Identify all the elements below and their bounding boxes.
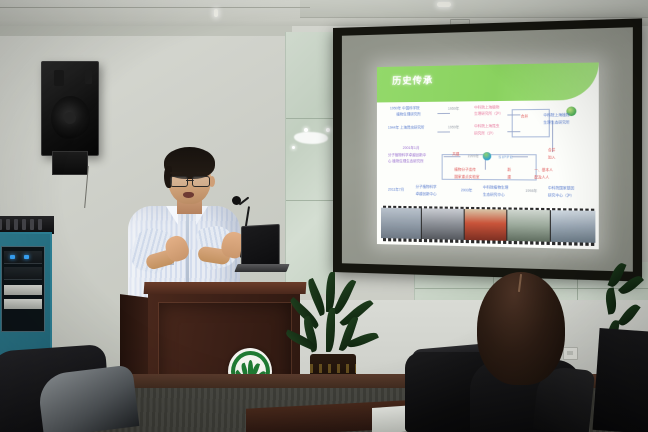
slide-flow-node: 生理研究所（沪）	[474, 112, 503, 117]
slide-flow-node: 分子植物科学	[416, 185, 437, 190]
rack-unit	[4, 267, 42, 280]
ceiling-beam	[300, 0, 648, 18]
speaker-dust-cap	[64, 112, 76, 124]
slide-flow-node: 中科院上海昆虫	[474, 124, 499, 129]
conference-room-photo: 历史传承 SIPPE 1950年 中国科学院植物生理研究	[0, 0, 648, 432]
speaker-port	[85, 70, 92, 84]
filmstrip-photo	[422, 209, 463, 241]
pot-decoration	[310, 364, 356, 373]
slide-flow-node: 卓越创新中心	[416, 192, 437, 197]
slide-flow-node: 1998年	[525, 189, 537, 194]
slide-sippe-logo-icon	[483, 152, 492, 160]
slide-flow-node: 建	[507, 175, 511, 179]
wall-power-outlet[interactable]	[563, 347, 578, 360]
slide-flow-node: 中科院上海植物	[543, 113, 569, 118]
rack-unit-faceplate	[4, 299, 42, 309]
slide-flow-node: 生理生态研究所	[543, 121, 569, 126]
slide-flow-node: 一、基本人	[534, 168, 553, 173]
slide-flow-node: 植物分子遗传	[454, 168, 475, 173]
av-rack-interior	[1, 246, 45, 332]
filmstrip-photo	[464, 209, 506, 241]
lectern-top-surface	[144, 282, 307, 294]
filmstrip-photo	[381, 208, 421, 239]
slide-flow-node: 心 植物生理生态研究所	[388, 160, 424, 164]
presenter-eyebrow-right	[196, 172, 209, 174]
slide-flow-node: 中科院上海植物	[474, 105, 499, 110]
presenter-laptop-base[interactable]	[234, 264, 289, 272]
presenter-mouth	[183, 192, 194, 198]
slide-flow-node: 共建	[452, 152, 459, 156]
slide-flow-node: 新	[507, 168, 511, 172]
slide-flow-node: 1959年	[448, 106, 459, 110]
slide-flow-node: 1944年 上海昆虫研究所	[388, 126, 424, 131]
projected-slide: 历史传承 SIPPE 1950年 中国科学院植物生理研究	[377, 62, 598, 249]
slide-flow-node: 2001年1月	[403, 146, 420, 150]
slide-flow-node: 1950年 中国科学院	[390, 106, 420, 111]
slide-flow-node: 加入	[548, 155, 555, 160]
av-equipment-rack	[0, 232, 52, 358]
eyeglass-lens-right	[192, 176, 210, 187]
eyeglass-lens-left	[170, 176, 188, 187]
speaker-tweeter	[54, 70, 64, 86]
slide-flow-node: 中科院植物生理	[483, 185, 508, 190]
slide-flow-node: 2003年	[461, 188, 473, 193]
eyeglasses-icon	[170, 176, 210, 185]
rack-unit	[4, 251, 42, 264]
filmstrip-photo	[551, 211, 595, 244]
rack-unit-faceplate	[4, 285, 42, 295]
slide-flow-node: 植物生理研究所	[396, 113, 420, 118]
presenter-eyebrow-left	[170, 172, 183, 174]
sage-glass-wall-panel	[285, 32, 335, 294]
projection-screen: 历史传承 SIPPE 1950年 中国科学院植物生理研究	[333, 18, 642, 281]
slide-logo-text: SIPPE	[498, 154, 513, 159]
speaker-woofer	[51, 96, 90, 140]
speaker-mounting-bracket	[52, 151, 88, 175]
wall-upper-band	[0, 26, 292, 36]
slide-flowchart: SIPPE 1950年 中国科学院植物生理研究所1959年中科院上海植物生理研究…	[377, 100, 598, 205]
slide-flow-node: 生态研究中心	[483, 192, 505, 197]
seated-audience-member	[477, 272, 565, 385]
slide-flow-node: 分子植物科学卓越创新中	[388, 153, 426, 157]
recessed-downlight	[214, 9, 218, 17]
projection-screen-surface: 历史传承 SIPPE 1950年 中国科学院植物生理研究	[342, 27, 633, 271]
slide-flow-node: 中科院国家基因	[548, 186, 574, 191]
slide-flow-node: 国家重点实验室	[454, 175, 479, 180]
wall-mounted-loudspeaker	[41, 61, 99, 156]
slide-flow-node: 研究中心（沪）	[548, 193, 574, 198]
slide-flow-node: 1959年	[448, 125, 459, 129]
slide-flow-node: 2011年7月	[388, 187, 404, 191]
slide-flow-node: 1999年	[467, 154, 479, 158]
potted-plant	[296, 272, 372, 388]
filmstrip-photo	[507, 210, 550, 242]
foreground-chair-right[interactable]	[593, 328, 648, 432]
photo-filmstrip	[381, 206, 596, 246]
ceiling-seam	[0, 7, 310, 8]
slide-flow-node: 合并	[548, 148, 555, 152]
slide-flow-node: 合并	[521, 115, 528, 120]
slide-title: 历史传承	[392, 73, 433, 87]
slide-flow-node: 研究所（沪）	[474, 131, 496, 136]
slide-flow-node: 配及人人	[534, 175, 549, 180]
recessed-downlight	[437, 2, 451, 7]
